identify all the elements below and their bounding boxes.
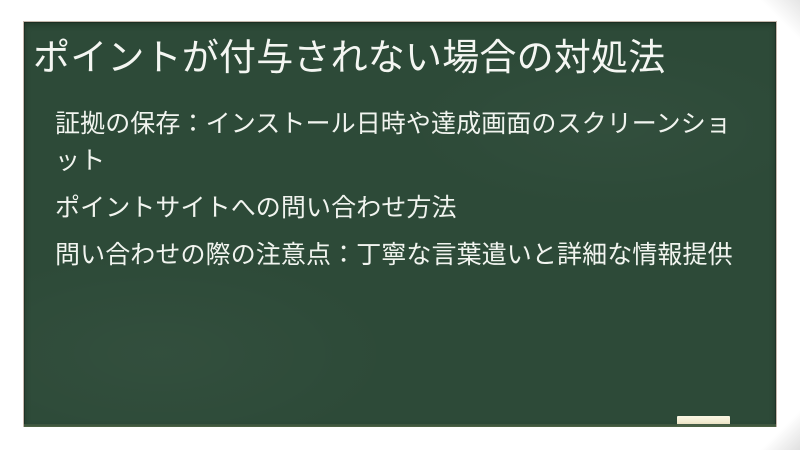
list-item: 証拠の保存：インストール日時や達成画面のスクリーンショット [55, 106, 745, 180]
chalkboard-surface: ポイントが付与されない場合の対処法 証拠の保存：インストール日時や達成画面のスク… [24, 22, 776, 426]
list-item: 問い合わせの際の注意点：丁寧な言葉遣いと詳細な情報提供 [55, 237, 745, 274]
chalkboard-slide: ポイントが付与されない場合の対処法 証拠の保存：インストール日時や達成画面のスク… [0, 0, 800, 450]
slide-title: ポイントが付与されない場合の対処法 [33, 35, 753, 81]
list-item: ポイントサイトへの問い合わせ方法 [55, 190, 745, 227]
chalkboard-ledge [24, 424, 776, 427]
bullet-list: 証拠の保存：インストール日時や達成画面のスクリーンショット ポイントサイトへの問… [55, 106, 745, 274]
